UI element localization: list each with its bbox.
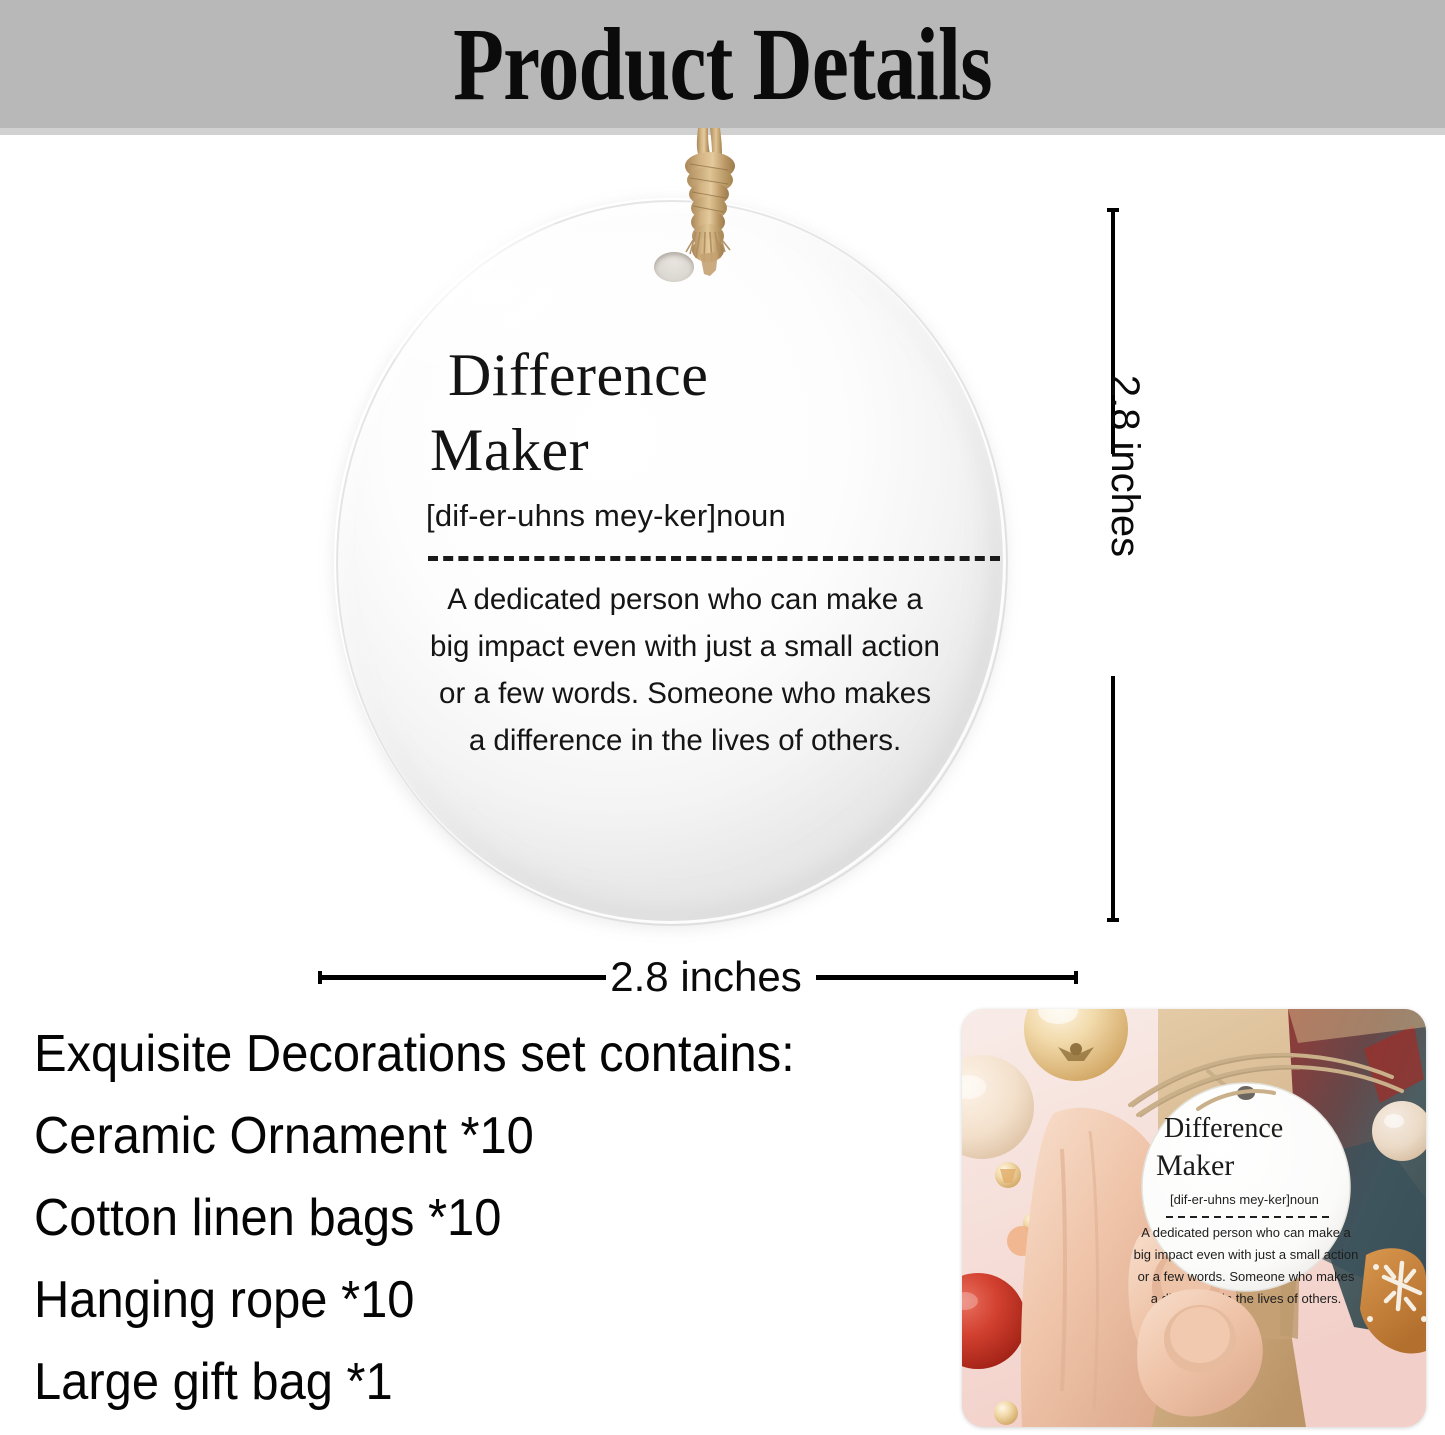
ornament-disc-face xyxy=(334,198,1006,924)
photo-ornament-definition-line: or a few words. Someone who makes xyxy=(1138,1269,1355,1284)
contents-list: Exquisite Decorations set contains: Cera… xyxy=(34,1022,954,1432)
contents-item: Large gift bag *1 xyxy=(34,1350,899,1414)
ceramic-ornament: Difference Maker [dif-er-uhns mey-ker]no… xyxy=(334,198,1006,924)
height-dimension-label: 2.8 inches xyxy=(1103,346,1147,586)
dimension-segment-bottom xyxy=(1111,676,1115,922)
lifestyle-photo: Difference Maker [dif-er-uhns mey-ker]no… xyxy=(962,1009,1426,1427)
ornament-definition-line: A dedicated person who can make a xyxy=(388,576,982,623)
ornament-title-line-2: Maker xyxy=(430,413,950,488)
ornament-definition-line: or a few words. Someone who makes xyxy=(388,670,982,717)
photo-ornament-title-line-1: Difference xyxy=(1164,1113,1283,1144)
width-dimension-label: 2.8 inches xyxy=(606,951,806,1003)
ornament-dashed-divider xyxy=(428,556,1000,561)
photo-ornament-definition-line: A dedicated person who can make a xyxy=(1141,1225,1351,1240)
dimension-segment-right xyxy=(816,975,1078,980)
contents-heading: Exquisite Decorations set contains: xyxy=(34,1022,899,1086)
ornament-definition-line: a difference in the lives of others. xyxy=(388,717,982,764)
contents-item: Hanging rope *10 xyxy=(34,1268,899,1332)
dimension-cap-bottom xyxy=(1107,918,1119,922)
ornament-pronunciation: [dif-er-uhns mey-ker]noun xyxy=(426,498,986,534)
dimension-cap-right xyxy=(1074,971,1078,984)
ornament-title-line-1: Difference xyxy=(430,338,950,413)
lifestyle-photo-scene: Difference Maker [dif-er-uhns mey-ker]no… xyxy=(962,1009,1426,1427)
hanging-rope-icon xyxy=(660,128,760,296)
ornament-title: Difference Maker xyxy=(430,338,950,488)
page-title: Product Details xyxy=(145,10,1301,120)
ornament-definition-line: big impact even with just a small action xyxy=(388,623,982,670)
photo-ornament-definition-line: big impact even with just a small action xyxy=(1134,1247,1359,1262)
contents-item: Ceramic Ornament *10 xyxy=(34,1104,899,1168)
photo-ornament-pronunciation: [dif-er-uhns mey-ker]noun xyxy=(1170,1192,1319,1207)
photo-ornament-title-line-2: Maker xyxy=(1156,1149,1234,1182)
contents-item: Cotton linen bags *10 xyxy=(34,1186,899,1250)
ornament-definition: A dedicated person who can make a big im… xyxy=(388,576,982,764)
dimension-segment-left xyxy=(318,975,606,980)
